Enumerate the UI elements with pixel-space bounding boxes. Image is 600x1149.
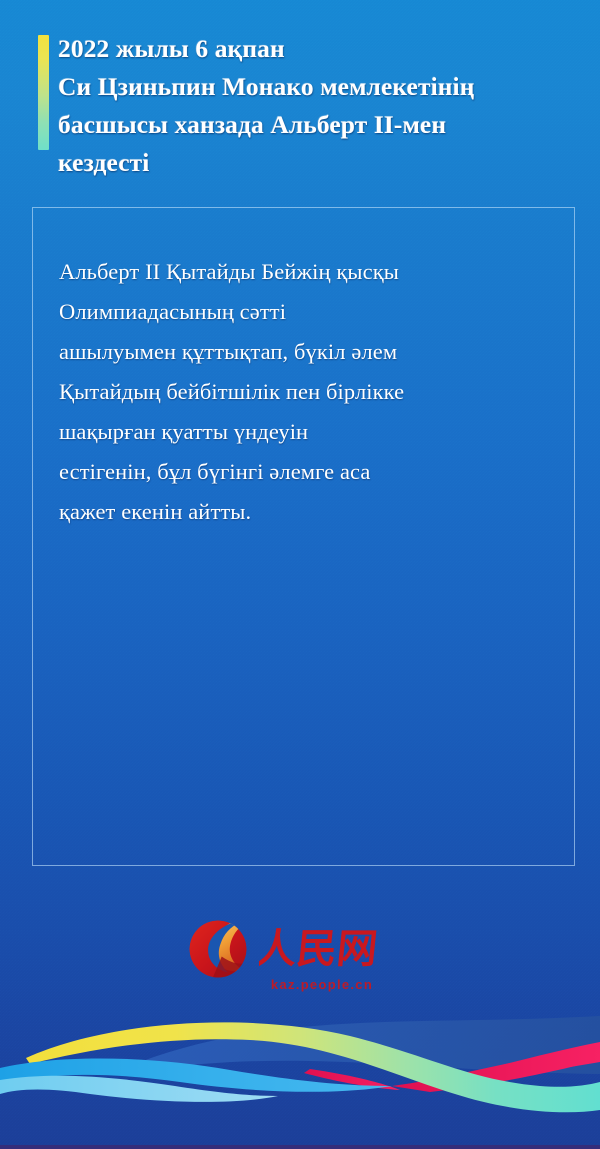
poster-canvas: 2022 жылы 6 ақпан Си Цзиньпин Монако мем… xyxy=(0,0,600,1149)
peoples-daily-wordmark: 人民网 xyxy=(259,924,420,974)
page-title: 2022 жылы 6 ақпан Си Цзиньпин Монако мем… xyxy=(58,30,578,182)
bottom-edge-strip xyxy=(0,1145,600,1149)
wave-decoration xyxy=(0,1014,600,1149)
content-card: Альберт II Қытайды Бейжің қысқы Олимпиад… xyxy=(32,207,575,866)
body-paragraph: Альберт II Қытайды Бейжің қысқы Олимпиад… xyxy=(59,252,544,532)
logo-row: 人民网 xyxy=(187,918,420,980)
logo-url: kaz.people.cn xyxy=(271,977,373,992)
wordmark-text: 人民网 xyxy=(259,927,380,972)
peoples-daily-globe-icon xyxy=(187,918,249,980)
footer-logo-block: 人民网 kaz.people.cn xyxy=(0,918,600,992)
header: 2022 жылы 6 ақпан Си Цзиньпин Монако мем… xyxy=(38,30,578,182)
accent-bar xyxy=(38,35,49,150)
